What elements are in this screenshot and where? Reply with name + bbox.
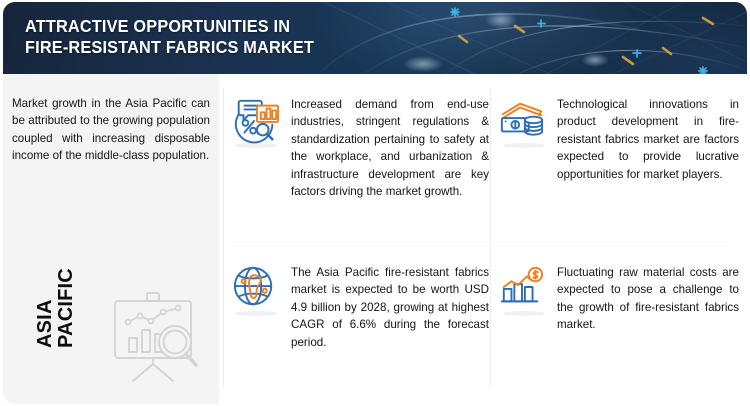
insight-card-2: Technological innovations in product dev… <box>499 96 747 183</box>
region-label: ASIA PACIFIC <box>35 218 77 348</box>
insight-card-3: The Asia Pacific fire-resistant fabrics … <box>231 264 491 351</box>
insight-text-4: Fluctuating raw material costs are expec… <box>557 264 739 334</box>
icon-container-2 <box>499 96 545 146</box>
divider-horizontal <box>231 246 731 247</box>
icon-shadow <box>235 143 277 148</box>
money-cash-coins-icon <box>499 96 545 142</box>
insight-text-3: The Asia Pacific fire-resistant fabrics … <box>291 264 489 351</box>
bar-chart-growth-dollar-icon <box>499 264 545 310</box>
icon-container-1 <box>231 96 281 146</box>
insight-card-4: Fluctuating raw material costs are expec… <box>499 264 747 334</box>
infographic-root: ATTRACTIVE OPPORTUNITIES IN FIRE-RESISTA… <box>0 0 750 406</box>
icon-container-4 <box>499 264 545 314</box>
globe-icon <box>231 264 277 310</box>
insight-text-1: Increased demand from end-use industries… <box>291 96 489 200</box>
icon-container-3 <box>231 264 281 314</box>
divider-vertical-left <box>223 88 224 388</box>
header-banner: ATTRACTIVE OPPORTUNITIES IN FIRE-RESISTA… <box>3 2 747 74</box>
content-area: Market growth in the Asia Pacific can be… <box>3 74 747 404</box>
icon-shadow <box>503 143 545 148</box>
left-region-panel: Market growth in the Asia Pacific can be… <box>3 74 219 404</box>
survey-analytics-icon <box>231 96 281 146</box>
left-panel-paragraph: Market growth in the Asia Pacific can be… <box>12 95 210 165</box>
icon-shadow <box>503 311 545 316</box>
insight-text-2: Technological innovations in product dev… <box>557 96 739 183</box>
page-title: ATTRACTIVE OPPORTUNITIES IN FIRE-RESISTA… <box>25 16 314 58</box>
icon-shadow <box>235 311 277 316</box>
presentation-chart-magnifier-icon <box>103 290 205 386</box>
insight-card-1: Increased demand from end-use industries… <box>231 96 491 200</box>
